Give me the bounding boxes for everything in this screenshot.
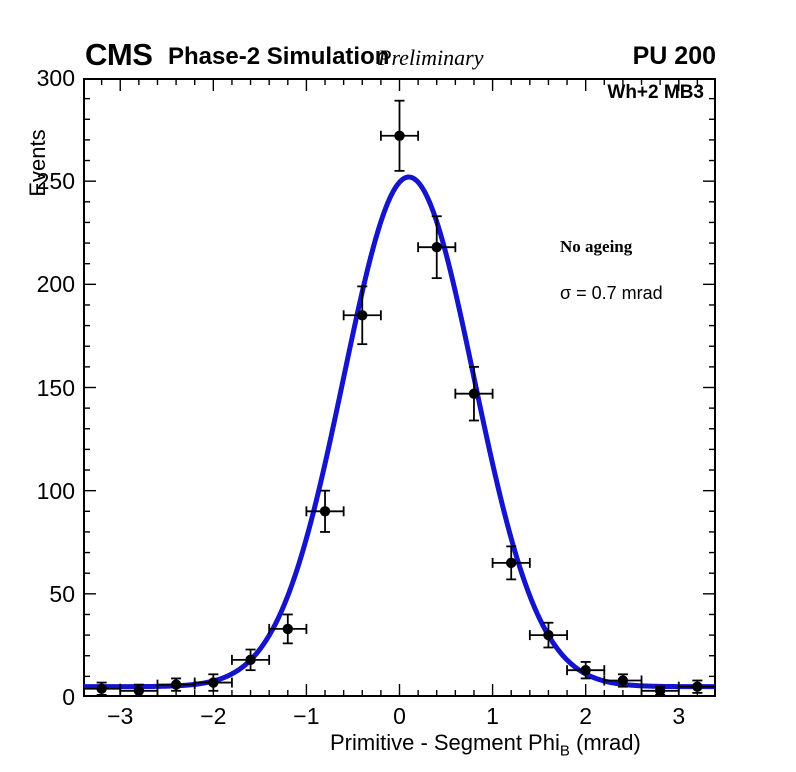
y-tick-label: 300 bbox=[9, 67, 75, 90]
x-tick-label: −1 bbox=[276, 705, 336, 728]
y-tick-label: 50 bbox=[9, 583, 75, 606]
x-tick-label: 2 bbox=[556, 705, 616, 728]
x-tick-label: 0 bbox=[370, 705, 430, 728]
y-tick-label: 200 bbox=[9, 273, 75, 296]
plot-canvas: CMS Phase-2 Simulation Preliminary PU 20… bbox=[0, 0, 796, 772]
x-tick-label: 1 bbox=[463, 705, 523, 728]
y-tick-label: 150 bbox=[9, 377, 75, 400]
x-tick-label: 3 bbox=[649, 705, 709, 728]
x-tick-label: −2 bbox=[183, 705, 243, 728]
tick-label-layer: 050100150200250300−3−2−10123 bbox=[0, 0, 796, 772]
y-tick-label: 100 bbox=[9, 480, 75, 503]
y-tick-label: 0 bbox=[9, 686, 75, 709]
y-tick-label: 250 bbox=[9, 170, 75, 193]
x-tick-label: −3 bbox=[90, 705, 150, 728]
